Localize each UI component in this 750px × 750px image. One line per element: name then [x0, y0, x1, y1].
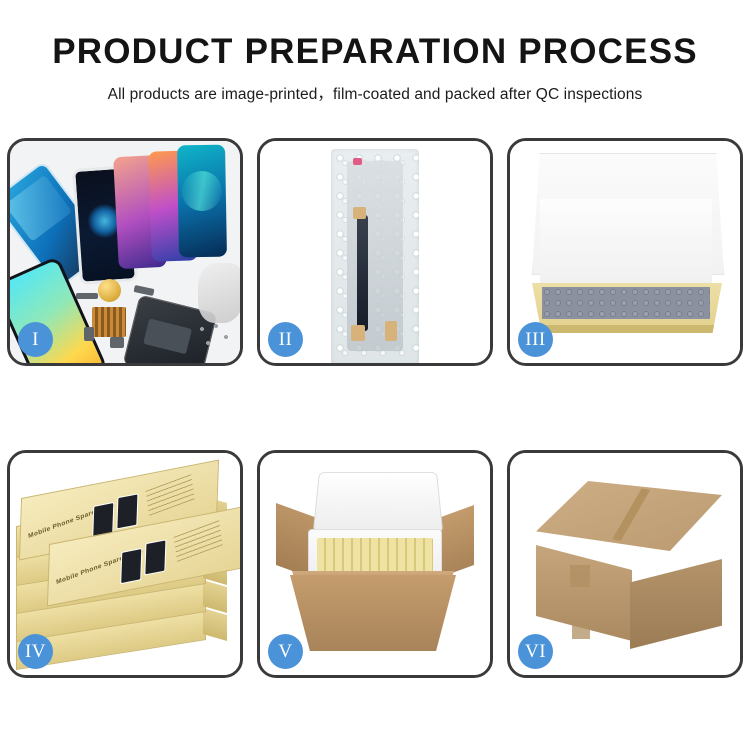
step-card-1[interactable]: I	[7, 138, 243, 366]
flex-cable-icon	[357, 215, 368, 331]
step-card-3[interactable]: III	[507, 138, 743, 366]
flex-connector-grid-icon	[92, 307, 126, 337]
connector-bottom-left-icon	[351, 325, 365, 341]
page-title: PRODUCT PREPARATION PROCESS	[0, 34, 750, 69]
header: PRODUCT PREPARATION PROCESS All products…	[0, 0, 750, 104]
step-badge-5: V	[268, 634, 303, 669]
step-card-2[interactable]: II	[257, 138, 493, 366]
step-card-4[interactable]: Mobile Phone Spare Parts Mobile Phone Sp…	[7, 450, 243, 678]
steps-grid: I II III	[7, 138, 743, 678]
connector-top-icon	[353, 207, 366, 219]
page-subtitle: All products are image-printed，film-coat…	[0, 82, 750, 104]
small-chip-icon	[76, 293, 98, 299]
bubble-padding-icon	[542, 287, 710, 319]
carton-tape-patch-bottom-icon	[572, 621, 590, 639]
bubble-wrap-bag-icon	[331, 149, 419, 363]
product-preparation-infographic: PRODUCT PREPARATION PROCESS All products…	[0, 0, 750, 750]
carton-tape-patch-top-icon	[570, 565, 590, 587]
carton-body-icon	[290, 575, 456, 651]
screws-icon	[196, 323, 232, 349]
pink-label-icon	[353, 158, 362, 165]
connector-bottom-right-icon	[385, 321, 397, 341]
small-part-icon	[84, 327, 94, 341]
step-card-6[interactable]: VI	[507, 450, 743, 678]
hand-icon	[198, 263, 240, 323]
phone-screen-teal-icon	[177, 145, 227, 258]
step-badge-6: VI	[518, 634, 553, 669]
step-card-5[interactable]: V	[257, 450, 493, 678]
step-badge-4: IV	[18, 634, 53, 669]
carton-right-face-icon	[630, 559, 722, 649]
flex-cable-icon	[133, 285, 154, 296]
coil-part-icon	[98, 279, 121, 302]
camera-part-icon	[110, 337, 124, 348]
step-badge-2: II	[268, 322, 303, 357]
foam-sheet-icon	[540, 199, 712, 285]
step-badge-3: III	[518, 322, 553, 357]
step-badge-1: I	[18, 322, 53, 357]
foam-box-lid-icon	[313, 472, 443, 533]
